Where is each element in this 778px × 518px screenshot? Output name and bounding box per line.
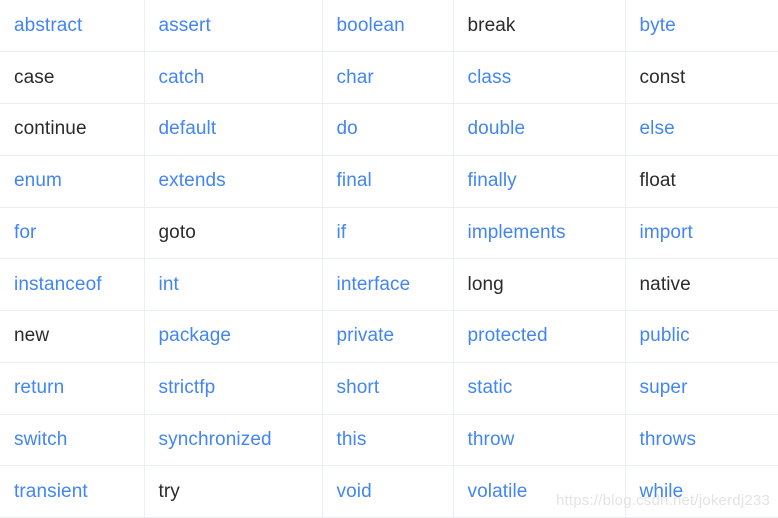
table-cell: assert [144,0,322,52]
table-cell: continue [0,104,144,156]
table-row: casecatchcharclassconst [0,52,778,104]
keyword-link[interactable]: void [337,480,372,504]
table-cell: interface [322,259,453,311]
keyword-link[interactable]: char [337,66,374,90]
keyword-link[interactable]: public [640,324,690,348]
keyword-link[interactable]: do [337,117,358,141]
table-cell: break [453,0,625,52]
table-cell: volatile [453,466,625,518]
keyword-link[interactable]: this [337,428,367,452]
table-cell: final [322,155,453,207]
table-cell: throw [453,414,625,466]
keyword-link[interactable]: protected [468,324,548,348]
keyword-link[interactable]: implements [468,221,566,245]
table-cell: switch [0,414,144,466]
table-cell: char [322,52,453,104]
table-cell: return [0,362,144,414]
keyword-link[interactable]: boolean [337,14,405,38]
keyword-link[interactable]: import [640,221,693,245]
table-cell: super [625,362,778,414]
table-cell: this [322,414,453,466]
keyword-text: new [14,324,49,348]
table-cell: protected [453,311,625,363]
keyword-link[interactable]: final [337,169,372,193]
table-row: switchsynchronizedthisthrowthrows [0,414,778,466]
keyword-link[interactable]: package [159,324,232,348]
keyword-text: try [159,480,180,504]
keyword-link[interactable]: short [337,376,380,400]
table-cell: package [144,311,322,363]
table-cell: public [625,311,778,363]
table-cell: throws [625,414,778,466]
table-cell: instanceof [0,259,144,311]
table-cell: byte [625,0,778,52]
table-cell: while [625,466,778,518]
table-cell: if [322,207,453,259]
keyword-text: const [640,66,686,90]
keyword-link[interactable]: static [468,376,513,400]
table-cell: abstract [0,0,144,52]
table-cell: boolean [322,0,453,52]
table-cell: transient [0,466,144,518]
keyword-link[interactable]: private [337,324,395,348]
keyword-link[interactable]: instanceof [14,273,102,297]
java-keyword-table: abstractassertbooleanbreakbytecasecatchc… [0,0,778,518]
keyword-link[interactable]: catch [159,66,205,90]
keyword-link[interactable]: class [468,66,512,90]
keyword-link[interactable]: super [640,376,688,400]
table-cell: implements [453,207,625,259]
table-cell: short [322,362,453,414]
table-cell: static [453,362,625,414]
keyword-link[interactable]: assert [159,14,211,38]
table-row: newpackageprivateprotectedpublic [0,311,778,363]
table-cell: class [453,52,625,104]
table-cell: native [625,259,778,311]
table-row: enumextendsfinalfinallyfloat [0,155,778,207]
table-cell: extends [144,155,322,207]
table-cell: void [322,466,453,518]
table-row: continuedefaultdodoubleelse [0,104,778,156]
table-cell: float [625,155,778,207]
table-cell: new [0,311,144,363]
table-row: returnstrictfpshortstaticsuper [0,362,778,414]
keyword-text: native [640,273,691,297]
keyword-link[interactable]: finally [468,169,517,193]
table-cell: synchronized [144,414,322,466]
table-row: instanceofintinterfacelongnative [0,259,778,311]
keyword-text: goto [159,221,196,245]
keyword-link[interactable]: while [640,480,684,504]
keyword-link[interactable]: default [159,117,217,141]
keyword-link[interactable]: else [640,117,675,141]
keyword-link[interactable]: byte [640,14,676,38]
table-cell: default [144,104,322,156]
table-row: forgotoifimplementsimport [0,207,778,259]
keyword-link[interactable]: transient [14,480,88,504]
table-cell: double [453,104,625,156]
keyword-table-body: abstractassertbooleanbreakbytecasecatchc… [0,0,778,518]
keyword-text: float [640,169,676,193]
table-cell: finally [453,155,625,207]
keyword-link[interactable]: return [14,376,64,400]
table-cell: for [0,207,144,259]
table-row: abstractassertbooleanbreakbyte [0,0,778,52]
table-cell: private [322,311,453,363]
table-row: transienttryvoidvolatilewhile [0,466,778,518]
keyword-link[interactable]: interface [337,273,411,297]
keyword-text: continue [14,117,87,141]
table-cell: import [625,207,778,259]
keyword-link[interactable]: switch [14,428,67,452]
keyword-text: break [468,14,516,38]
keyword-link[interactable]: extends [159,169,226,193]
keyword-link[interactable]: throws [640,428,697,452]
table-cell: else [625,104,778,156]
keyword-link[interactable]: strictfp [159,376,216,400]
keyword-link[interactable]: double [468,117,526,141]
table-cell: goto [144,207,322,259]
keyword-link[interactable]: throw [468,428,515,452]
table-cell: enum [0,155,144,207]
table-cell: strictfp [144,362,322,414]
keyword-link[interactable]: int [159,273,179,297]
table-cell: do [322,104,453,156]
table-cell: try [144,466,322,518]
keyword-text: case [14,66,55,90]
keyword-link[interactable]: if [337,221,347,245]
keyword-link[interactable]: synchronized [159,428,272,452]
table-cell: const [625,52,778,104]
keyword-text: long [468,273,504,297]
keyword-link[interactable]: abstract [14,14,82,38]
table-cell: int [144,259,322,311]
keyword-link[interactable]: volatile [468,480,528,504]
keyword-link[interactable]: enum [14,169,62,193]
table-cell: case [0,52,144,104]
table-cell: catch [144,52,322,104]
table-cell: long [453,259,625,311]
keyword-link[interactable]: for [14,221,36,245]
